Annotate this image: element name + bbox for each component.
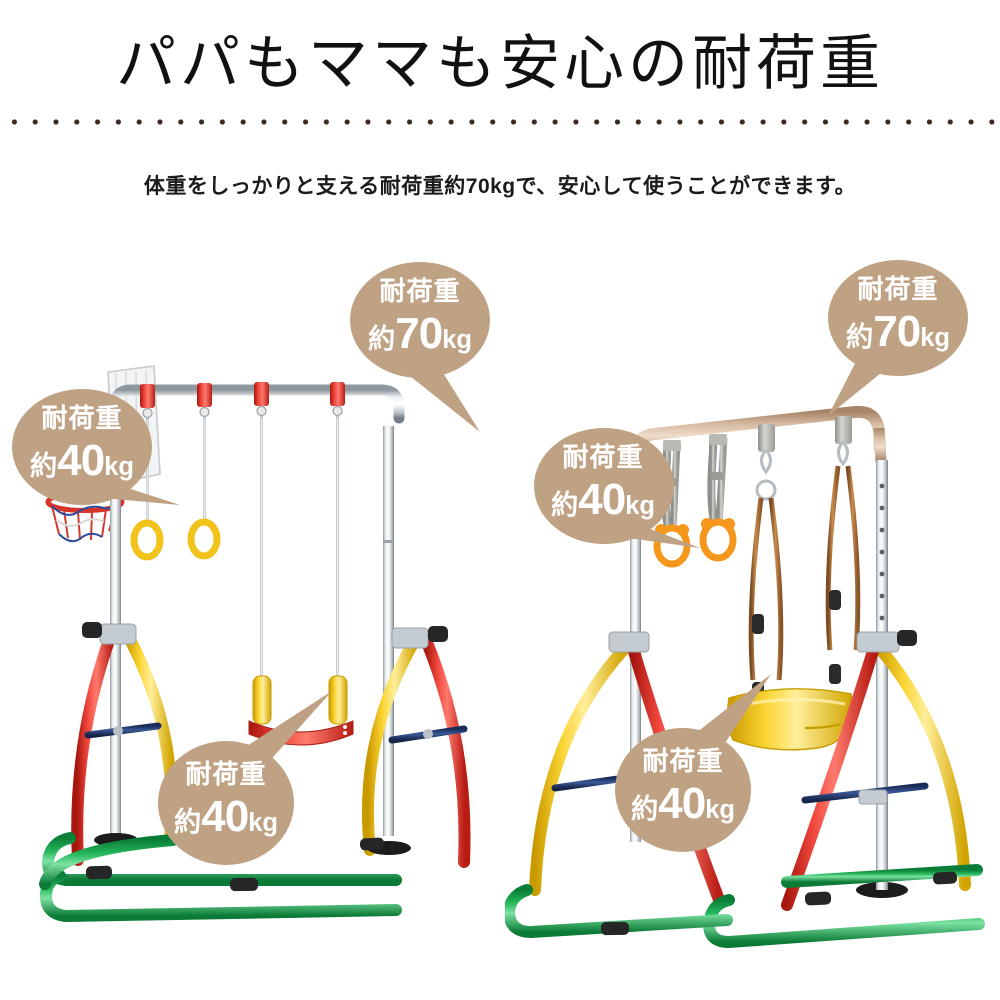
page-subtitle: 体重をしっかりと支える耐荷重約70kgで、安心して使うことができます。 [0, 172, 1000, 202]
badge-bubble [828, 260, 968, 376]
badge-bubble [534, 428, 674, 544]
rope-hanger-right [828, 416, 858, 684]
product-stage: 耐荷重 約70kg 耐荷重 約40kg [0, 240, 1000, 1000]
ring-2 [191, 522, 217, 556]
header: パパもママも安心の耐荷重 [0, 0, 1000, 128]
badge-bubble [12, 389, 152, 505]
page-title: パパもママも安心の耐荷重 [0, 28, 1000, 100]
badge-bubble [158, 741, 294, 865]
badge-left-40kg-swing: 耐荷重 約40kg [140, 725, 310, 895]
clamp-2 [197, 383, 212, 417]
badge-right-70kg: 耐荷重 約70kg [818, 258, 978, 418]
legs-right [368, 626, 465, 862]
badge-right-40kg-ring: 耐荷重 約40kg [528, 420, 693, 590]
dotted-divider [0, 118, 1000, 126]
badge-bubble [350, 262, 490, 378]
clamp-3 [254, 382, 269, 416]
badge-bubble [615, 728, 751, 852]
rope-hanger-left [751, 424, 781, 702]
badge-right-40kg-swing: 耐荷重 約40kg [595, 710, 770, 885]
infographic-page: パパもママも安心の耐荷重 体重をしっかりと支える耐荷重約70kgで、安心して使う… [0, 0, 1000, 1000]
badge-left-40kg-ring: 耐荷重 約40kg [10, 385, 170, 555]
badge-left-70kg: 耐荷重 約70kg [340, 260, 500, 410]
